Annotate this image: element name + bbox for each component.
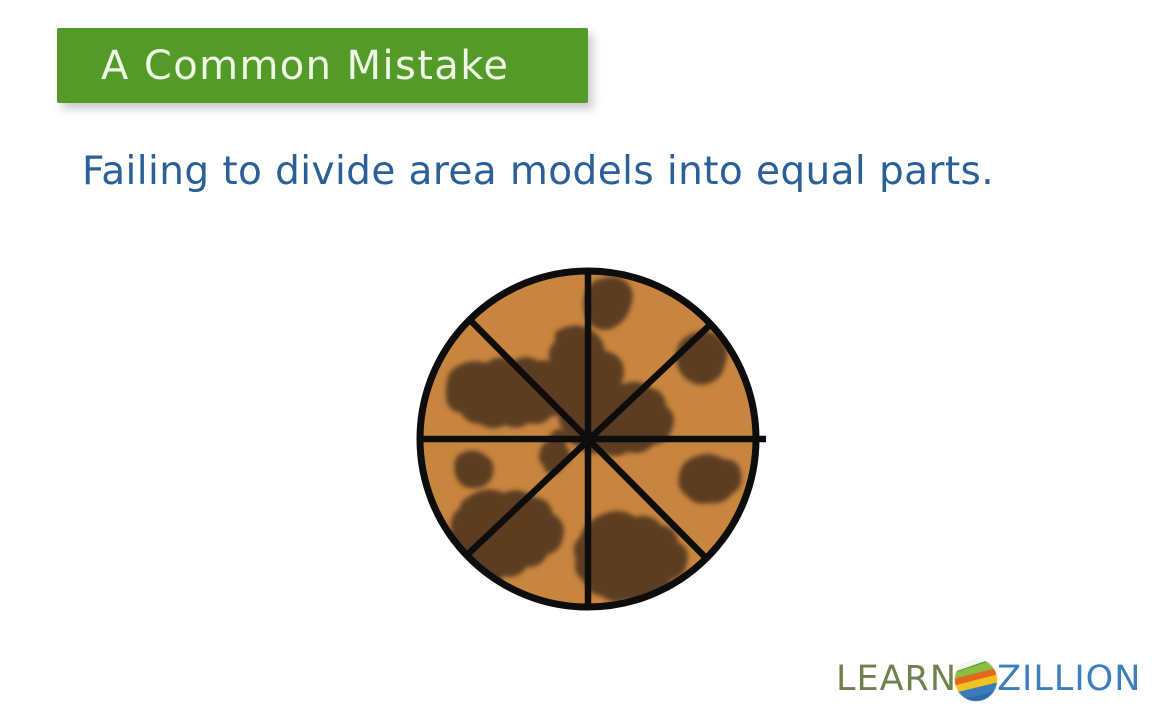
globe-icon — [953, 657, 999, 703]
learnzillion-logo: LEARN ZILLION — [836, 652, 1141, 706]
logo-word-learn: LEARN — [836, 662, 957, 697]
title-banner: A Common Mistake — [57, 28, 588, 103]
cookie-area-model-figure — [405, 252, 777, 624]
slide-canvas: A Common Mistake Failing to divide area … — [0, 0, 1152, 720]
cookie-diagram — [405, 252, 777, 624]
body-paragraph: Failing to divide area models into equal… — [82, 147, 1042, 198]
page-title: A Common Mistake — [101, 46, 509, 86]
logo-word-zillion: ZILLION — [997, 662, 1141, 697]
